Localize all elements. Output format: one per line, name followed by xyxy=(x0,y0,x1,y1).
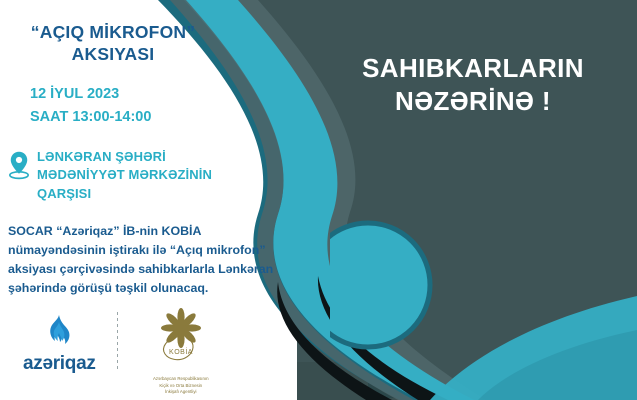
location-pin-icon xyxy=(8,150,30,180)
kobia-caption-line-1: Azərbaycan Respublikasının xyxy=(130,376,232,383)
title-line-2: AKSIYASI xyxy=(8,44,218,66)
azeriqaz-logo: azəriqaz xyxy=(12,308,107,375)
kobia-logo: KOBİA Azərbaycan Respublikasının Kiçik v… xyxy=(130,308,232,396)
venue-line-2: MƏDƏNİYYƏT MƏRKƏZİNİN xyxy=(37,166,212,184)
kobia-caption-line-3: İnkişafı Agentliyi xyxy=(130,389,232,396)
event-time: SAAT 13:00-14:00 xyxy=(30,106,151,129)
headline-line-2: NƏZƏRİNƏ ! xyxy=(323,85,623,118)
venue-line-1: LƏNKƏRAN ŞƏHƏRİ xyxy=(37,148,212,166)
event-description: SOCAR “Azəriqaz” İB-nin KOBİA nümayəndəs… xyxy=(8,222,298,297)
event-venue: LƏNKƏRAN ŞƏHƏRİ MƏDƏNİYYƏT MƏRKƏZİNİN QA… xyxy=(8,148,238,203)
poster-headline: SAHIBKARLARIN NƏZƏRİNƏ ! xyxy=(323,52,623,119)
logo-divider xyxy=(117,312,118,370)
description-line-1: SOCAR “Azəriqaz” İB-nin KOBİA xyxy=(8,222,298,241)
title-line-1: “AÇIQ MİKROFON” xyxy=(31,22,195,42)
description-line-4: şəhərində görüşü təşkil olunacaq. xyxy=(8,279,298,298)
svg-text:KOBİA: KOBİA xyxy=(169,347,193,356)
gas-flame-icon xyxy=(44,314,74,346)
kobia-caption-line-2: Kiçik və Orta Biznesin xyxy=(130,383,232,390)
headline-line-1: SAHIBKARLARIN xyxy=(362,53,584,83)
content-column: “AÇIQ MİKROFON” AKSIYASI 12 İYUL 2023 SA… xyxy=(0,0,300,400)
poster-title: “AÇIQ MİKROFON” AKSIYASI xyxy=(8,22,218,66)
sponsor-logo-strip: azəriqaz xyxy=(12,308,232,394)
event-datetime: 12 İYUL 2023 SAAT 13:00-14:00 xyxy=(30,83,151,129)
event-date: 12 İYUL 2023 xyxy=(30,83,151,106)
description-line-2: nümayəndəsinin iştirakı ilə “Açıq mikrof… xyxy=(8,241,298,260)
azeriqaz-wordmark: azəriqaz xyxy=(12,353,107,375)
kobia-flower-icon: KOBİA xyxy=(151,308,211,370)
venue-address: LƏNKƏRAN ŞƏHƏRİ MƏDƏNİYYƏT MƏRKƏZİNİN QA… xyxy=(37,148,212,203)
poster-canvas: “AÇIQ MİKROFON” AKSIYASI 12 İYUL 2023 SA… xyxy=(0,0,637,400)
description-line-3: aksiyası çərçivəsində sahibkarlarla Lənk… xyxy=(8,260,298,279)
kobia-caption: Azərbaycan Respublikasının Kiçik və Orta… xyxy=(130,376,232,396)
venue-line-3: QARŞISI xyxy=(37,185,212,203)
